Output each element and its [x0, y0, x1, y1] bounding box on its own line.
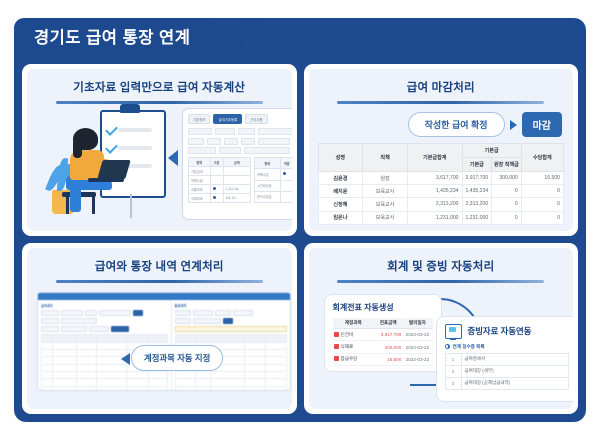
filter-row	[41, 326, 168, 332]
flow-arrow-icon	[168, 150, 178, 166]
table-row: 인건비 3,617,700 2023-03-22	[333, 329, 433, 341]
grid-cell	[77, 364, 97, 371]
filter-field[interactable]	[89, 326, 109, 332]
grid-cell	[53, 386, 77, 390]
col-header-director: 원장 직책급	[492, 158, 522, 172]
cell-account: 식재료	[333, 341, 375, 353]
list-item-number: 1	[445, 353, 461, 365]
form-field[interactable]	[188, 147, 216, 154]
payroll-group-header-row: 성명 직책 기본급합계 기본급 수당합계	[318, 144, 564, 158]
form-field[interactable]	[241, 138, 255, 145]
card-voucher-auto-create: 회계전표 자동생성 계정과목 전표금액 발의일자 인건비 3,617,700 2…	[324, 294, 442, 372]
form-field[interactable]	[215, 128, 235, 135]
panel3-title: 급여와 통장 내역 연계처리	[36, 258, 283, 274]
col-header-base-total: 기본급합계	[407, 144, 462, 172]
panel4-rule	[337, 280, 544, 283]
cell-name: 김윤경	[318, 172, 363, 185]
form-cell: 식대보조	[189, 194, 211, 203]
grid-cell	[42, 379, 53, 386]
radio-dot-icon	[213, 187, 216, 190]
form-cell: 111,111	[223, 194, 250, 203]
grid-cell	[211, 386, 244, 390]
grid-header-row	[42, 334, 168, 342]
col-group-header-base: 기본급	[462, 144, 521, 158]
grid-col	[42, 334, 53, 342]
filter-field[interactable]	[61, 318, 97, 324]
form-row	[188, 128, 292, 135]
card-evidence-auto-link: 증빙자료 자동연동 연계 징수증 목록 1 급여명세서	[436, 316, 574, 402]
filter-row	[175, 318, 287, 324]
form-cell: 교통보조	[189, 185, 211, 194]
close-payroll-button[interactable]: 마감	[522, 112, 562, 137]
cell-allowance-total: 0	[521, 185, 563, 198]
callout-account-auto-assign: 계정과목 자동 지정	[131, 345, 223, 371]
clipboard-line	[118, 146, 152, 150]
grid-cell	[42, 364, 53, 371]
grid-cell	[244, 379, 265, 386]
col-header-account: 계정과목	[333, 318, 375, 329]
grid-cell	[53, 357, 77, 364]
monitor-stand-icon	[450, 338, 456, 340]
list-item: 1 급여명세서	[445, 353, 568, 365]
grid-cell	[195, 386, 211, 390]
form-col-header: 항목	[189, 158, 211, 167]
banner-tail-shape	[239, 18, 261, 54]
bank-link-screenshot: 급여관리	[37, 292, 291, 391]
form-table-row: 연차수당금	[254, 191, 291, 202]
table-row: 김윤경 원장 3,617,700 3,917,700 300,000 16,50…	[318, 172, 564, 185]
form-tab[interactable]: 근무사항	[245, 114, 267, 124]
grid-row	[42, 379, 168, 386]
grid-cell	[148, 379, 167, 386]
grid-cell	[265, 372, 286, 379]
grid-cell	[175, 386, 195, 390]
cell-account-label: 인건비	[341, 332, 354, 337]
voucher-header-row: 계정과목 전표금액 발의일자	[333, 318, 433, 329]
monitor-icon	[445, 324, 462, 339]
grid-cell	[265, 342, 286, 349]
grid-cell	[42, 357, 53, 364]
form-cell: 직책수당	[254, 169, 280, 180]
filter-row	[41, 318, 168, 324]
cell-allowance-total: 0	[521, 198, 563, 211]
grid-col	[244, 334, 265, 342]
col-header-amount: 전표금액	[374, 318, 402, 329]
panel2-rule	[337, 101, 544, 104]
notice-row	[175, 326, 287, 332]
table-row: 배지윤 보육교사 1,435,234 1,435,234 0 0	[318, 185, 564, 198]
table-row: 임은나 보육교사 1,231,000 1,231,000 0 0	[318, 211, 564, 224]
card-b-subtitle-row: 연계 징수증 목록	[445, 344, 569, 350]
filter-field[interactable]	[99, 310, 131, 316]
cell-base: 3,917,700	[462, 172, 492, 185]
radio-dot-icon	[283, 172, 286, 175]
form-table-row: 시간외수당	[254, 180, 291, 191]
panel2-title: 급여 마감처리	[318, 79, 565, 95]
arrow-right-icon	[510, 120, 517, 130]
app-header-bar	[38, 293, 290, 300]
grid-cell	[265, 349, 286, 356]
form-cell: 시간외수당	[254, 180, 280, 191]
list-item: 2 급여대장 (세부)	[445, 365, 568, 377]
grid-col	[195, 334, 211, 342]
cell-date: 2023-03-22	[402, 329, 432, 341]
search-button[interactable]	[223, 318, 233, 324]
grid-cell	[244, 349, 265, 356]
cell-position: 보육교사	[363, 185, 408, 198]
cell-base: 1,231,000	[462, 211, 492, 224]
grid-cell	[175, 379, 195, 386]
search-button[interactable]	[133, 310, 143, 316]
grid-cell	[244, 364, 265, 371]
cell-position: 보육교사	[363, 211, 408, 224]
clipboard-line	[118, 128, 152, 132]
form-cell	[280, 180, 291, 191]
grid-cell	[77, 379, 97, 386]
list-item-label: 급여대장 (공제납급내역)	[461, 377, 568, 389]
form-cell	[210, 194, 223, 203]
panel1-title: 기초자료 입력만으로 급여 자동계산	[36, 79, 283, 95]
form-table-row: 기본급여	[189, 167, 251, 176]
filter-row	[175, 310, 287, 316]
grid-cell	[42, 372, 53, 379]
table-row: 신정혜 보육교사 2,313,200 2,313,200 0 0	[318, 198, 564, 211]
form-cell: 연차수당금	[254, 191, 280, 202]
card-b-header: 증빙자료 자동연동	[445, 324, 569, 339]
filter-field[interactable]	[41, 326, 59, 332]
grid-row	[42, 386, 168, 390]
grid-cell	[77, 349, 97, 356]
cell-account-label: 잡급수당	[341, 356, 358, 361]
list-item: 3 급여대장 (공제납급내역)	[445, 377, 568, 389]
grid-cell	[77, 386, 97, 390]
form-cell	[223, 167, 250, 176]
list-item-label: 급여대장 (세부)	[461, 365, 568, 377]
cell-date: 2023-03-22	[402, 341, 432, 353]
cell-position: 보육교사	[363, 198, 408, 211]
grid-cell	[211, 379, 244, 386]
form-tables: 항목 구분 금액 기본급여 직책수당	[188, 157, 292, 203]
form-cell: 직책수당	[189, 176, 211, 185]
grid-cell	[265, 379, 286, 386]
grid-cell	[244, 372, 265, 379]
grid-row	[175, 379, 286, 386]
col-header-base: 기본급	[462, 158, 492, 172]
callout-arrow-icon	[121, 353, 130, 365]
list-item-number: 2	[445, 365, 461, 377]
form-table-row: 직책수당	[189, 176, 251, 185]
clipboard-stand	[130, 194, 132, 218]
grid-cell	[148, 372, 167, 379]
grid-cell	[77, 372, 97, 379]
panel-payroll-close: 급여 마감처리 작성한 급여 확정 마감 성명 직책 기본급합계 기본급	[304, 64, 579, 236]
grid-cell-account	[97, 372, 127, 379]
cell-base-total: 3,617,700	[407, 172, 462, 185]
panel4-body: 회계전표 자동생성 계정과목 전표금액 발의일자 인건비 3,617,700 2…	[318, 288, 565, 408]
grid-cell	[127, 386, 148, 390]
filter-field[interactable]	[175, 318, 191, 324]
cell-base-total: 1,231,000	[407, 211, 462, 224]
radio-dot-icon	[213, 196, 216, 199]
panel4-title: 회계 및 증빙 자동처리	[318, 258, 565, 274]
form-field[interactable]	[224, 138, 238, 145]
cell-base: 2,313,200	[462, 198, 492, 211]
confirm-close-row: 작성한 급여 확정 마감	[318, 112, 563, 137]
cell-date: 2023-03-22	[402, 353, 432, 365]
form-field[interactable]	[188, 128, 212, 135]
grid-row	[42, 372, 168, 379]
grid-cell	[42, 386, 53, 390]
form-col-header: 구분	[210, 158, 223, 167]
grid-col	[77, 334, 97, 342]
filter-field[interactable]	[175, 310, 191, 316]
form-cell	[210, 185, 223, 194]
cell-director: 0	[492, 198, 522, 211]
apply-button[interactable]	[111, 326, 129, 332]
form-col-header: 항목	[254, 158, 280, 169]
grid-cell	[53, 349, 77, 356]
evidence-list: 1 급여명세서 2 급여대장 (세부) 3 급여대장 (공제납급내역)	[445, 353, 569, 391]
grid-cell	[127, 379, 148, 386]
grid-col	[53, 334, 77, 342]
payroll-table: 성명 직책 기본급합계 기본급 수당합계 기본급 원장 직책급	[318, 143, 565, 225]
grid-cell	[244, 342, 265, 349]
form-tab[interactable]: 기본정보	[188, 114, 210, 124]
grid-cell	[53, 342, 77, 349]
col-header-name: 성명	[318, 144, 363, 172]
cell-name: 신정혜	[318, 198, 363, 211]
cell-director: 0	[492, 211, 522, 224]
form-field[interactable]	[258, 138, 290, 145]
form-col-header: 금액	[223, 158, 250, 167]
filter-field[interactable]	[215, 310, 231, 316]
form-cell: 기본급여	[189, 167, 211, 176]
filter-field[interactable]	[233, 310, 253, 316]
col-header-allowance-total: 수당합계	[521, 144, 563, 172]
grid-cell	[42, 349, 53, 356]
col-header-date: 발의일자	[402, 318, 432, 329]
grid-cell	[53, 364, 77, 371]
filter-row	[41, 310, 168, 316]
filter-field[interactable]	[41, 318, 59, 324]
grid-cell	[53, 379, 77, 386]
grid-cell	[148, 386, 167, 390]
filter-field[interactable]	[193, 318, 221, 324]
cell-allowance-total: 16,500	[521, 172, 563, 185]
table-row: 잡급수당 16,500 2023-03-22	[333, 353, 433, 365]
grid-row	[175, 372, 286, 379]
cell-account: 인건비	[333, 329, 375, 341]
stool-leg	[92, 196, 95, 214]
grid-row	[175, 386, 286, 390]
grid-cell	[211, 372, 244, 379]
grid-cell-account	[97, 364, 127, 371]
table-row: 식재료 200,000 2023-03-22	[333, 341, 433, 353]
cell-amount: 16,500	[374, 353, 402, 365]
voucher-icon	[334, 344, 339, 349]
panel1-rule	[56, 101, 263, 104]
person-shin	[70, 188, 81, 212]
form-cell	[210, 167, 223, 176]
form-col-header: 적용	[280, 158, 291, 169]
grid-cell	[244, 357, 265, 364]
payroll-side-title: 급여관리	[41, 303, 168, 308]
card-a-title: 회계전표 자동생성	[333, 302, 433, 313]
grid-cell-account	[97, 386, 127, 390]
list-item-number: 3	[445, 377, 461, 389]
form-row	[188, 138, 292, 145]
form-cell	[280, 191, 291, 202]
grid-cell	[127, 372, 148, 379]
form-table-left: 항목 구분 금액 기본급여 직책수당	[188, 157, 251, 203]
card-b-title: 증빙자료 자동연동	[468, 325, 532, 337]
cell-director: 0	[492, 185, 522, 198]
voucher-icon	[334, 356, 339, 361]
cell-name: 배지윤	[318, 185, 363, 198]
stool-leg	[66, 196, 69, 214]
form-table-row: 교통보조 1,111,111	[189, 185, 251, 194]
confirm-payroll-label[interactable]: 작성한 급여 확정	[408, 112, 505, 137]
grid-col	[175, 334, 195, 342]
grid-col	[127, 334, 148, 342]
form-field[interactable]	[188, 138, 204, 145]
form-cell	[210, 176, 223, 185]
form-tabs: 기본정보 급여기초등록 근무사항	[188, 114, 292, 124]
panel1-inner: 기초자료 입력만으로 급여 자동계산	[27, 69, 292, 231]
form-field[interactable]	[244, 147, 290, 154]
panel1-body: 기본정보 급여기초등록 근무사항	[36, 108, 283, 220]
list-item-label: 급여명세서	[461, 353, 568, 365]
grid-cell	[244, 386, 265, 390]
panel-accounting-automation: 회계 및 증빙 자동처리 회계전표 자동생성 계정과목 전표금액 발의일자	[304, 243, 579, 415]
form-tab-active[interactable]: 급여기초등록	[213, 114, 242, 124]
cell-amount: 3,617,700	[374, 329, 402, 341]
form-cell	[223, 176, 250, 185]
grid-cell	[265, 357, 286, 364]
form-cell	[280, 169, 291, 180]
grid-cell	[195, 379, 211, 386]
cell-amount: 200,000	[374, 341, 402, 353]
cell-account-label: 식재료	[341, 344, 354, 349]
panel3-inner: 급여와 통장 내역 연계처리 급여관리	[27, 248, 292, 410]
grid-cell-account	[97, 379, 127, 386]
form-field[interactable]	[219, 147, 241, 154]
grid-cell	[77, 357, 97, 364]
bank-side-title: 통장내역	[175, 303, 287, 308]
grid-cell	[265, 386, 286, 390]
title-banner: 경기도 급여 통장 연계	[14, 18, 212, 54]
voucher-table: 계정과목 전표금액 발의일자 인건비 3,617,700 2023-03-22 …	[333, 318, 433, 366]
grid-col	[211, 334, 244, 342]
panel3-rule	[56, 280, 263, 283]
grid-cell	[265, 364, 286, 371]
cell-account: 잡급수당	[333, 353, 375, 365]
laptop-base-icon	[88, 178, 124, 182]
cell-director: 300,000	[492, 172, 522, 185]
grid-header-row	[175, 334, 286, 342]
payroll-form-screenshot: 기본정보 급여기초등록 근무사항	[182, 108, 292, 220]
card-b-subtitle: 연계 징수증 목록	[453, 344, 485, 350]
filter-field[interactable]	[193, 310, 213, 316]
filter-field[interactable]	[85, 310, 97, 316]
cell-base: 1,435,234	[462, 185, 492, 198]
clipboard-clip-icon	[120, 104, 140, 113]
cell-name: 임은나	[318, 211, 363, 224]
laptop-screen-icon	[97, 160, 130, 179]
panel2-inner: 급여 마감처리 작성한 급여 확정 마감 성명 직책 기본급합계 기본급	[309, 69, 574, 231]
grid-cell	[42, 342, 53, 349]
illustration-person-laptop	[48, 108, 168, 220]
grid-col-account	[97, 334, 127, 342]
cell-base-total: 2,313,200	[407, 198, 462, 211]
col-header-position: 직책	[363, 144, 408, 172]
grid-cell	[195, 372, 211, 379]
grid-col	[148, 334, 167, 342]
cell-base-total: 1,435,234	[407, 185, 462, 198]
notice-banner	[175, 326, 287, 332]
form-table-row: 직책수당	[254, 169, 291, 180]
panel-grid: 기초자료 입력만으로 급여 자동계산	[22, 64, 578, 414]
cell-allowance-total: 0	[521, 211, 563, 224]
form-row	[188, 147, 292, 154]
form-field[interactable]	[238, 128, 256, 135]
page-title: 경기도 급여 통장 연계	[34, 24, 190, 48]
form-table-right: 항목 적용 직책수당 시간외수당	[254, 157, 292, 203]
filter-field[interactable]	[61, 310, 83, 316]
form-field[interactable]	[207, 138, 221, 145]
grid-col	[265, 334, 286, 342]
panel-bank-linking: 급여와 통장 내역 연계처리 급여관리	[22, 243, 297, 415]
panel-auto-calculation: 기초자료 입력만으로 급여 자동계산	[22, 64, 297, 236]
grid-cell	[175, 372, 195, 379]
panel4-inner: 회계 및 증빙 자동처리 회계전표 자동생성 계정과목 전표금액 발의일자	[309, 248, 574, 410]
filter-field[interactable]	[61, 326, 87, 332]
bullet-icon	[445, 344, 450, 349]
filter-field[interactable]	[41, 310, 59, 316]
grid-cell	[53, 372, 77, 379]
form-field[interactable]	[258, 128, 291, 135]
voucher-icon	[334, 332, 339, 337]
poster-canvas: 경기도 급여 통장 연계 기초자료 입력만으로 급여 자동계산	[0, 0, 600, 437]
form-cell: 1,111,111	[223, 185, 250, 194]
grid-cell-account	[97, 342, 127, 349]
cell-position: 원장	[363, 172, 408, 185]
form-table-row: 식대보조 111,111	[189, 194, 251, 203]
grid-cell	[77, 342, 97, 349]
person-hair	[73, 128, 98, 150]
